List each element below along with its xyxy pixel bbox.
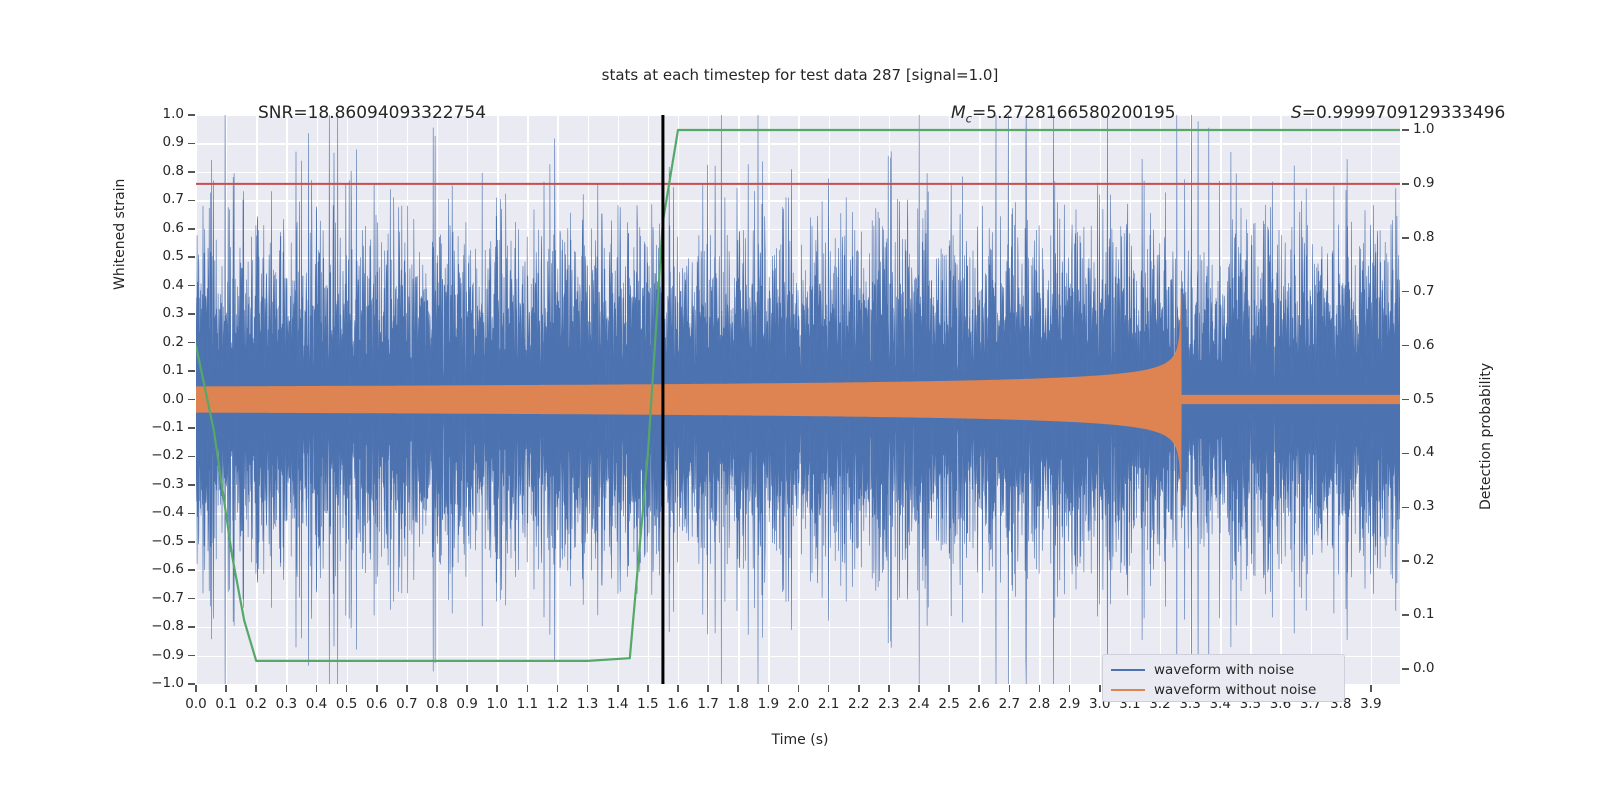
y-tick-label: 0.0 xyxy=(140,391,184,407)
x-tick-mark xyxy=(828,685,830,692)
x-tick-mark xyxy=(527,685,529,692)
y-tick-mark-right xyxy=(1402,399,1409,401)
y-tick-label: −1.0 xyxy=(140,675,184,691)
x-tick-mark xyxy=(707,685,709,692)
x-tick-mark xyxy=(677,685,679,692)
x-tick-mark xyxy=(1099,685,1101,692)
x-tick-mark xyxy=(316,685,318,692)
snr-annotation: SNR=18.86094093322754 xyxy=(258,103,486,123)
y-axis-right-label: Detection probability xyxy=(1478,363,1494,510)
y-tick-label: −0.9 xyxy=(140,647,184,663)
y-tick-label: 0.9 xyxy=(140,134,184,150)
x-tick-mark xyxy=(858,685,860,692)
y-tick-mark xyxy=(188,370,195,372)
legend: waveform with noise waveform without noi… xyxy=(1102,654,1345,702)
legend-swatch-line xyxy=(1111,689,1145,691)
chirp-mass-annotation: Mc=5.2728166580200195 xyxy=(951,103,1176,125)
x-tick-mark xyxy=(195,685,197,692)
y-tick-label: −0.6 xyxy=(140,561,184,577)
y-tick-mark xyxy=(188,228,195,230)
y-tick-label: 0.3 xyxy=(140,305,184,321)
y-tick-mark-right xyxy=(1402,614,1409,616)
y-tick-mark-right xyxy=(1402,129,1409,131)
y-tick-mark xyxy=(188,683,195,685)
y-tick-label-right: 0.5 xyxy=(1413,391,1457,407)
x-tick-mark xyxy=(948,685,950,692)
y-tick-mark xyxy=(188,114,195,116)
y-tick-label-right: 0.1 xyxy=(1413,606,1457,622)
y-tick-mark-right xyxy=(1402,668,1409,670)
y-tick-mark xyxy=(188,655,195,657)
y-tick-label-right: 0.3 xyxy=(1413,498,1457,514)
page-title: stats at each timestep for test data 287… xyxy=(0,66,1600,84)
y-tick-label: −0.2 xyxy=(140,447,184,463)
x-tick-mark xyxy=(255,685,257,692)
y-tick-label-right: 0.7 xyxy=(1413,283,1457,299)
y-tick-mark xyxy=(188,513,195,515)
x-tick-mark xyxy=(617,685,619,692)
y-tick-mark-right xyxy=(1402,560,1409,562)
y-tick-mark-right xyxy=(1402,183,1409,185)
y-tick-mark-right xyxy=(1402,345,1409,347)
x-tick-mark xyxy=(918,685,920,692)
y-tick-label-right: 0.4 xyxy=(1413,444,1457,460)
y-tick-mark-right xyxy=(1402,291,1409,293)
plot-area xyxy=(196,115,1400,684)
y-tick-label: 0.1 xyxy=(140,362,184,378)
x-tick-mark xyxy=(225,685,227,692)
y-tick-label: −0.4 xyxy=(140,504,184,520)
y-tick-label: 0.7 xyxy=(140,191,184,207)
x-tick-mark xyxy=(1039,685,1041,692)
y-tick-label: −0.1 xyxy=(140,419,184,435)
legend-item-waveform-with-noise: waveform with noise xyxy=(1111,660,1336,680)
legend-label: waveform with noise xyxy=(1154,662,1294,678)
x-tick-mark xyxy=(436,685,438,692)
x-tick-mark xyxy=(346,685,348,692)
chirp-mass-value: =5.2728166580200195 xyxy=(972,103,1176,123)
legend-label: waveform without noise xyxy=(1154,682,1316,698)
x-tick-mark xyxy=(1009,685,1011,692)
y-tick-label-right: 0.6 xyxy=(1413,337,1457,353)
y-tick-mark xyxy=(188,256,195,258)
x-tick-mark xyxy=(647,685,649,692)
y-tick-mark-right xyxy=(1402,237,1409,239)
y-tick-mark xyxy=(188,171,195,173)
y-tick-mark xyxy=(188,313,195,315)
x-tick-mark xyxy=(1069,685,1071,692)
y-tick-mark xyxy=(188,541,195,543)
legend-item-waveform-without-noise: waveform without noise xyxy=(1111,680,1336,700)
y-tick-mark-right xyxy=(1402,453,1409,455)
data-layer xyxy=(196,115,1400,684)
x-tick-mark xyxy=(768,685,770,692)
y-tick-label: 0.4 xyxy=(140,277,184,293)
x-tick-mark xyxy=(376,685,378,692)
y-tick-label-right: 0.0 xyxy=(1413,660,1457,676)
y-tick-mark xyxy=(188,399,195,401)
y-tick-mark xyxy=(188,484,195,486)
x-tick-mark xyxy=(406,685,408,692)
y-tick-label: −0.3 xyxy=(140,476,184,492)
x-tick-mark xyxy=(888,685,890,692)
score-value: =0.9999709129333496 xyxy=(1302,103,1506,123)
x-tick-mark xyxy=(587,685,589,692)
x-axis-label: Time (s) xyxy=(0,732,1600,748)
y-axis-left-label: Whitened strain xyxy=(112,179,128,290)
y-tick-mark xyxy=(188,598,195,600)
x-tick-mark xyxy=(496,685,498,692)
y-tick-label: −0.7 xyxy=(140,590,184,606)
y-tick-label: −0.5 xyxy=(140,533,184,549)
y-tick-label: 1.0 xyxy=(140,106,184,122)
y-tick-label-right: 1.0 xyxy=(1413,121,1457,137)
score-symbol: S xyxy=(1291,103,1302,123)
chirp-mass-symbol: Mc xyxy=(951,103,972,123)
x-tick-mark xyxy=(798,685,800,692)
y-tick-mark xyxy=(188,143,195,145)
x-tick-mark xyxy=(286,685,288,692)
y-tick-label: 0.2 xyxy=(140,334,184,350)
y-tick-mark xyxy=(188,569,195,571)
y-tick-label: −0.8 xyxy=(140,618,184,634)
y-tick-mark xyxy=(188,200,195,202)
x-tick-label: 3.9 xyxy=(1351,696,1391,712)
y-tick-mark xyxy=(188,285,195,287)
y-tick-label: 0.8 xyxy=(140,163,184,179)
y-tick-mark xyxy=(188,427,195,429)
y-tick-mark xyxy=(188,626,195,628)
x-tick-mark xyxy=(466,685,468,692)
y-tick-mark xyxy=(188,342,195,344)
y-tick-label-right: 0.9 xyxy=(1413,175,1457,191)
score-annotation: S=0.9999709129333496 xyxy=(1291,103,1505,123)
legend-swatch-line xyxy=(1111,669,1145,671)
x-tick-mark xyxy=(978,685,980,692)
y-tick-mark xyxy=(188,456,195,458)
y-tick-label-right: 0.2 xyxy=(1413,552,1457,568)
x-tick-mark xyxy=(557,685,559,692)
y-tick-label-right: 0.8 xyxy=(1413,229,1457,245)
y-tick-label: 0.5 xyxy=(140,248,184,264)
y-tick-mark-right xyxy=(1402,507,1409,509)
y-tick-label: 0.6 xyxy=(140,220,184,236)
x-tick-mark xyxy=(737,685,739,692)
x-tick-mark xyxy=(1370,685,1372,692)
